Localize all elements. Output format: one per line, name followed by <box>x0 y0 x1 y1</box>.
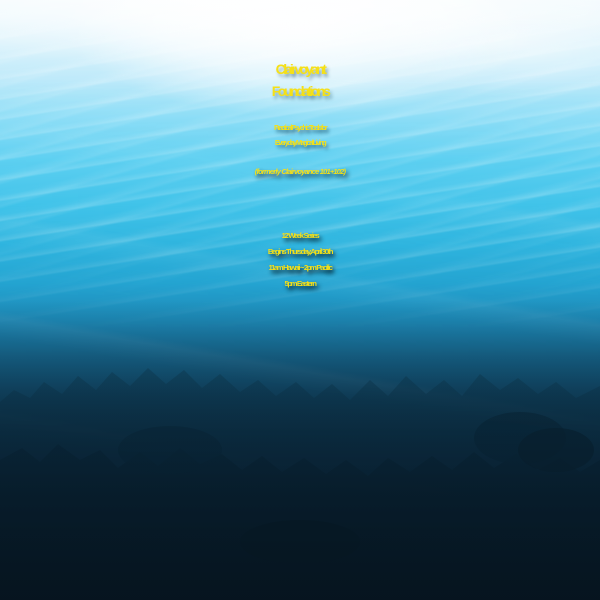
poster-text-content: Clairvoyant Foundations Practical Psychi… <box>0 0 600 600</box>
start-date: Begins Thursday, April 30th <box>0 248 600 256</box>
series-length: 12 Week Series <box>0 232 600 240</box>
title-line-1: Clairvoyant <box>0 62 600 76</box>
subtitle-line-1: Practical Psychic Tools for <box>0 124 600 132</box>
formerly-known-as-note: (formerly Clairvoyance 101+102) <box>0 168 600 176</box>
event-poster: Clairvoyant Foundations Practical Psychi… <box>0 0 600 600</box>
subtitle-line-2: Everyday Magical Living <box>0 139 600 147</box>
times-line-1: 11am Hawaii ~ 2pm Pacific <box>0 264 600 272</box>
title-line-2: Foundations <box>0 84 600 98</box>
times-line-2: 5pm Eastern <box>0 280 600 288</box>
